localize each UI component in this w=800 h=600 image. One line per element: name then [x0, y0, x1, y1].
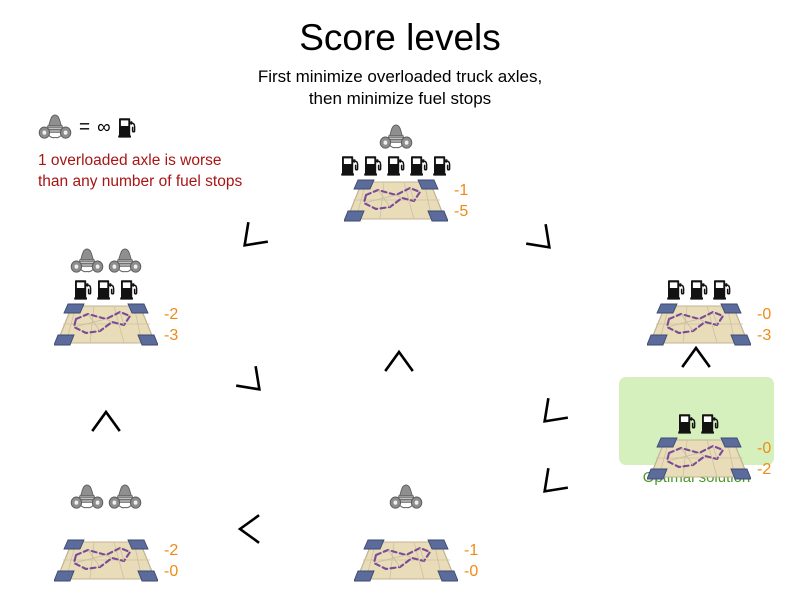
fuel-pump-icon [410, 154, 429, 176]
score-display: -2 -0 [164, 540, 178, 582]
fuel-pump-icon [667, 278, 686, 300]
score-display: -2 -3 [164, 304, 178, 346]
overloaded-axle-icon [70, 248, 104, 274]
fuel-pump-icon [118, 116, 137, 138]
route-map: -1 -5 [340, 179, 452, 223]
soft-score: -3 [757, 325, 771, 346]
fuel-pump-icon-row [340, 152, 452, 176]
overloaded-axle-icon [70, 484, 104, 510]
comparison-operator-top-left [231, 219, 271, 259]
page-title: Score levels [0, 16, 800, 60]
comparison-operator-top-right [523, 221, 563, 261]
legend-equation: = ∞ [38, 112, 288, 142]
fuel-pump-icon [341, 154, 360, 176]
solution-node-optimal[interactable]: -0 -2 [643, 382, 755, 481]
solution-node-left-upper[interactable]: -2 -3 [50, 248, 162, 347]
solution-node-bottom-center[interactable]: -1 -0 [350, 484, 462, 583]
legend: = ∞ 1 overloaded axle is worse than any … [38, 112, 288, 192]
comparison-operator-right-vertical [681, 344, 711, 370]
axle-icon-row [340, 124, 452, 150]
route-map: -0 -3 [643, 303, 755, 347]
fuel-pump-icon-row [50, 276, 162, 300]
axle-icon-row [643, 382, 755, 408]
axle-icon-row [50, 484, 162, 510]
fuel-pump-icon [74, 278, 93, 300]
fuel-pump-icon [387, 154, 406, 176]
overloaded-axle-icon [108, 248, 142, 274]
fuel-pump-icon [678, 412, 697, 434]
page-subtitle-line-2: then minimize fuel stops [0, 88, 800, 110]
fuel-pump-icon [364, 154, 383, 176]
hard-score: -2 [164, 304, 178, 325]
comparison-operator-center-up [384, 348, 414, 374]
fuel-pump-icon-row [350, 512, 462, 536]
score-display: -1 -5 [454, 180, 468, 222]
score-display: -0 -3 [757, 304, 771, 346]
soft-score: -0 [164, 561, 178, 582]
fuel-pump-icon [690, 278, 709, 300]
hard-score: -2 [164, 540, 178, 561]
comparison-operator-right-mid [531, 395, 571, 435]
hard-score: -1 [454, 180, 468, 201]
page-subtitle-line-1: First minimize overloaded truck axles, [0, 66, 800, 88]
hard-score: -1 [464, 540, 478, 561]
axle-icon-row [350, 484, 462, 510]
soft-score: -3 [164, 325, 178, 346]
fuel-pump-icon [713, 278, 732, 300]
overloaded-axle-icon [108, 484, 142, 510]
equals-sign: = [79, 118, 90, 137]
soft-score: -0 [464, 561, 478, 582]
score-display: -0 -2 [757, 438, 771, 480]
hard-score: -0 [757, 304, 771, 325]
fuel-pump-icon [97, 278, 116, 300]
overloaded-axle-icon [389, 484, 423, 510]
overloaded-axle-icon [379, 124, 413, 150]
route-map: -1 -0 [350, 539, 462, 583]
hard-score: -0 [757, 438, 771, 459]
overloaded-axle-icon [38, 114, 72, 140]
soft-score: -5 [454, 201, 468, 222]
fuel-pump-icon-row [643, 276, 755, 300]
legend-note-line-1: 1 overloaded axle is worse [38, 150, 288, 171]
solution-node-right-upper[interactable]: -0 -3 [643, 248, 755, 347]
comparison-operator-right-low [531, 465, 571, 505]
soft-score: -2 [757, 459, 771, 480]
fuel-pump-icon [433, 154, 452, 176]
score-display: -1 -0 [464, 540, 478, 582]
comparison-operator-left-mid [233, 363, 273, 403]
comparison-operator-left-up [91, 408, 121, 434]
fuel-pump-icon [701, 412, 720, 434]
legend-note-line-2: than any number of fuel stops [38, 171, 288, 192]
legend-note: 1 overloaded axle is worse than any numb… [38, 150, 288, 192]
page-subtitle: First minimize overloaded truck axles, t… [0, 66, 800, 110]
fuel-pump-icon-row [50, 512, 162, 536]
infinity-symbol: ∞ [97, 118, 111, 137]
comparison-operator-bottom [236, 514, 262, 544]
solution-node-top-center[interactable]: -1 -5 [340, 124, 452, 223]
axle-icon-row [50, 248, 162, 274]
route-map: -0 -2 [643, 437, 755, 481]
axle-icon-row [643, 248, 755, 274]
route-map: -2 -0 [50, 539, 162, 583]
fuel-pump-icon-row [643, 410, 755, 434]
solution-node-bottom-left[interactable]: -2 -0 [50, 484, 162, 583]
fuel-pump-icon [120, 278, 139, 300]
route-map: -2 -3 [50, 303, 162, 347]
